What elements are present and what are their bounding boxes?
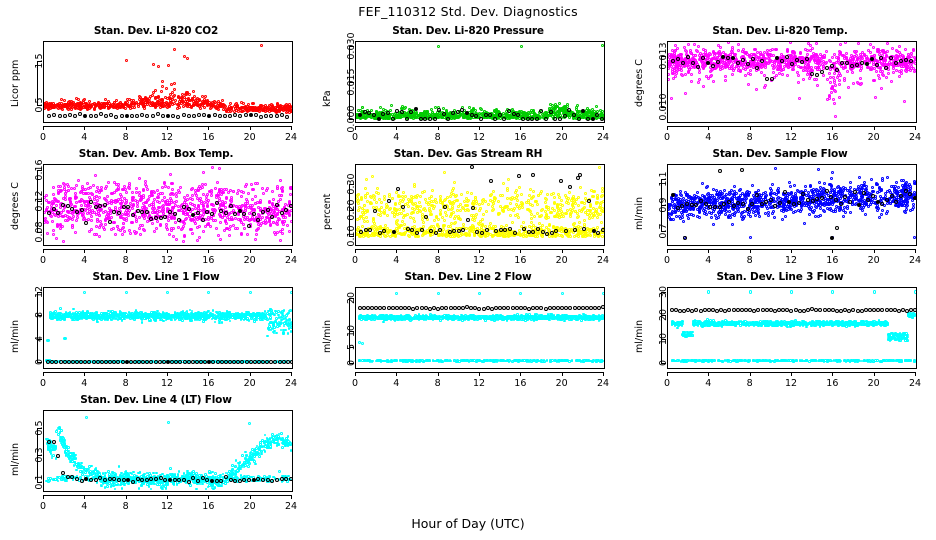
data-point — [402, 209, 405, 212]
data-point — [760, 66, 763, 69]
data-point — [391, 197, 394, 200]
data-point — [882, 49, 885, 52]
data-point — [489, 194, 492, 197]
data-point — [667, 73, 670, 76]
data-point — [589, 204, 592, 207]
data-point — [138, 194, 141, 197]
data-point — [169, 173, 172, 176]
data-point — [455, 199, 458, 202]
data-point — [162, 204, 165, 207]
data-point — [161, 186, 164, 189]
data-point — [173, 212, 177, 216]
data-point — [94, 114, 98, 118]
data-point — [815, 73, 819, 77]
data-point — [675, 72, 678, 75]
data-point — [208, 101, 211, 104]
y-tick-label: 0.030 — [346, 30, 357, 62]
data-point — [747, 83, 750, 86]
data-point — [716, 60, 720, 64]
data-point — [822, 74, 825, 77]
data-point — [216, 181, 219, 184]
data-point — [541, 224, 544, 227]
panel-4: Stan. Dev. Amb. Box Temp.048121620240.08… — [0, 148, 312, 271]
data-point — [61, 203, 65, 207]
data-point — [554, 105, 557, 108]
data-point — [890, 80, 893, 83]
data-point — [182, 105, 185, 108]
data-point — [117, 188, 120, 191]
data-point — [691, 61, 695, 65]
data-point — [249, 113, 253, 117]
data-point — [127, 104, 130, 107]
data-point — [564, 194, 567, 197]
data-point — [690, 73, 693, 76]
x-tick — [562, 126, 563, 130]
data-point — [553, 196, 556, 199]
data-point — [282, 223, 285, 226]
data-point — [111, 192, 114, 195]
data-point — [710, 74, 713, 77]
data-point — [130, 114, 134, 118]
data-point — [479, 117, 483, 121]
data-point — [846, 70, 849, 73]
data-point — [80, 204, 83, 207]
data-point — [702, 67, 705, 70]
data-point — [270, 215, 274, 219]
plot-area — [667, 41, 917, 123]
data-point — [186, 103, 189, 106]
data-point — [196, 226, 199, 229]
data-point — [63, 188, 66, 191]
data-point — [672, 77, 675, 80]
data-point — [766, 49, 769, 52]
data-point — [196, 239, 199, 242]
data-point — [246, 105, 249, 108]
data-point — [421, 234, 424, 237]
data-point — [910, 52, 913, 55]
x-tick — [167, 249, 168, 253]
data-point — [786, 74, 789, 77]
data-point — [218, 167, 221, 170]
data-point — [751, 57, 755, 61]
x-tick-label: 4 — [70, 255, 98, 266]
data-point — [258, 214, 261, 217]
data-point — [497, 200, 500, 203]
data-point — [136, 205, 139, 208]
data-point — [246, 233, 249, 236]
data-point — [140, 113, 144, 117]
data-point — [159, 224, 162, 227]
data-point — [233, 212, 237, 216]
data-point — [450, 117, 453, 120]
data-point — [213, 113, 217, 117]
data-point — [114, 233, 117, 236]
data-point — [839, 74, 842, 77]
data-point — [83, 217, 86, 220]
data-point — [99, 112, 103, 116]
y-tick-label: 1.5 — [34, 45, 45, 77]
data-point — [83, 114, 87, 118]
data-point — [601, 187, 604, 190]
data-point — [859, 53, 862, 56]
data-point — [52, 233, 55, 236]
data-point — [140, 198, 143, 201]
data-point — [52, 207, 56, 211]
x-tick — [915, 126, 916, 130]
x-tick — [208, 249, 209, 253]
data-point — [721, 55, 725, 59]
data-point — [829, 68, 832, 71]
x-tick — [874, 126, 875, 130]
data-point — [361, 106, 364, 109]
data-point — [482, 213, 485, 216]
data-point — [512, 112, 516, 116]
data-point — [601, 190, 604, 193]
data-point — [369, 201, 372, 204]
data-point — [772, 71, 775, 74]
data-point — [903, 100, 906, 103]
data-point — [145, 210, 149, 214]
data-point — [390, 104, 393, 107]
data-point — [250, 183, 253, 186]
data-point — [419, 117, 423, 121]
x-tick — [126, 249, 127, 253]
x-tick-label: 24 — [277, 255, 305, 266]
data-point — [62, 182, 65, 185]
data-point — [802, 69, 805, 72]
data-point — [601, 44, 604, 47]
data-point — [706, 61, 710, 65]
data-point — [809, 44, 812, 47]
data-point — [138, 177, 141, 180]
data-point — [266, 208, 270, 212]
data-point — [447, 208, 450, 211]
data-point — [109, 113, 113, 117]
data-point — [431, 204, 434, 207]
data-point — [859, 77, 862, 80]
data-point — [820, 70, 824, 74]
data-point — [797, 81, 800, 84]
data-point — [375, 201, 378, 204]
data-point — [742, 63, 745, 66]
data-point — [913, 70, 916, 73]
data-point — [885, 54, 888, 57]
data-point — [197, 113, 201, 117]
data-point — [174, 99, 177, 102]
x-tick-label: 4 — [694, 132, 722, 143]
data-point — [775, 56, 779, 60]
data-point — [280, 194, 283, 197]
data-point — [162, 209, 165, 212]
data-point — [873, 79, 876, 82]
data-point — [119, 106, 122, 109]
data-point — [842, 67, 845, 70]
data-point — [253, 208, 256, 211]
data-point — [161, 80, 164, 83]
data-point — [64, 192, 67, 195]
data-point — [860, 82, 863, 85]
x-tick-label: 16 — [194, 255, 222, 266]
data-point — [752, 61, 755, 64]
data-point — [433, 219, 436, 222]
data-point — [522, 235, 525, 238]
data-point — [562, 215, 565, 218]
data-point — [518, 186, 521, 189]
data-point — [186, 57, 189, 60]
data-point — [491, 209, 494, 212]
data-point — [242, 212, 246, 216]
data-point — [852, 82, 855, 85]
data-point — [96, 218, 99, 221]
data-point — [255, 233, 258, 236]
data-point — [872, 46, 875, 49]
data-point — [851, 71, 854, 74]
data-point — [412, 211, 415, 214]
y-tick-label: 0.000 — [346, 103, 357, 135]
data-point — [517, 216, 520, 219]
data-point — [177, 103, 180, 106]
data-point — [172, 227, 175, 230]
data-point — [102, 211, 105, 214]
data-point — [856, 58, 859, 61]
data-point — [161, 199, 164, 202]
data-point — [290, 109, 293, 112]
data-point — [84, 209, 87, 212]
panel-title: Stan. Dev. Li-820 Pressure — [312, 25, 624, 37]
data-point — [165, 87, 168, 90]
data-point — [100, 208, 103, 211]
data-point — [737, 49, 740, 52]
data-point — [209, 107, 212, 110]
panel-title: Stan. Dev. Li-820 CO2 — [0, 25, 312, 37]
data-point — [373, 198, 376, 201]
data-point — [152, 104, 155, 107]
data-point — [724, 79, 727, 82]
y-tick-label: 0.12 — [34, 185, 45, 217]
data-point — [763, 86, 766, 89]
data-point — [210, 212, 214, 216]
data-point — [70, 187, 73, 190]
data-point — [423, 117, 427, 121]
panel-title: Stan. Dev. Amb. Box Temp. — [0, 148, 312, 160]
data-point — [240, 195, 243, 198]
data-point — [145, 114, 149, 118]
data-point — [847, 86, 850, 89]
data-point — [806, 49, 809, 52]
data-point — [871, 67, 874, 70]
data-point — [182, 113, 186, 117]
x-tick-label: 12 — [465, 132, 493, 143]
data-point — [268, 220, 271, 223]
data-point — [57, 215, 60, 218]
data-point — [78, 200, 81, 203]
data-point — [774, 48, 777, 51]
data-point — [94, 103, 97, 106]
data-point — [86, 182, 89, 185]
data-point — [103, 203, 107, 207]
data-point — [560, 199, 563, 202]
data-point — [52, 193, 55, 196]
data-point — [240, 233, 243, 236]
data-point — [137, 105, 140, 108]
x-tick-label: 0 — [653, 132, 681, 143]
data-point — [414, 107, 418, 111]
data-point — [289, 193, 292, 196]
data-point — [275, 114, 279, 118]
data-point — [838, 83, 841, 86]
data-point — [281, 189, 284, 192]
data-point — [223, 229, 226, 232]
data-point — [800, 60, 804, 64]
data-point — [437, 218, 440, 221]
data-point — [234, 217, 237, 220]
data-point — [568, 116, 571, 119]
data-point — [224, 201, 227, 204]
data-point — [80, 208, 84, 212]
data-point — [251, 198, 254, 201]
data-point — [156, 104, 159, 107]
data-point — [402, 191, 405, 194]
data-point — [502, 117, 506, 121]
data-point — [435, 201, 438, 204]
x-tick-label: 24 — [589, 132, 617, 143]
data-point — [104, 114, 108, 118]
data-point — [210, 104, 213, 107]
data-point — [166, 228, 169, 231]
data-point — [129, 232, 132, 235]
data-point — [279, 179, 282, 182]
data-point — [813, 78, 816, 81]
data-point — [881, 73, 884, 76]
y-tick-label: 0.015 — [346, 66, 357, 98]
data-point — [445, 214, 448, 217]
data-point — [226, 216, 229, 219]
data-point — [405, 117, 409, 121]
data-point — [457, 205, 460, 208]
x-tick — [603, 126, 604, 130]
data-point — [272, 198, 275, 201]
data-point — [422, 221, 425, 224]
data-point — [449, 195, 452, 198]
data-point — [67, 211, 70, 214]
data-point — [151, 114, 155, 118]
data-point — [67, 218, 70, 221]
y-tick-label: 0.010 — [658, 91, 669, 123]
data-point — [698, 78, 701, 81]
data-point — [850, 64, 854, 68]
data-point — [393, 207, 396, 210]
data-point — [717, 64, 720, 67]
data-point — [224, 211, 228, 215]
data-point — [282, 216, 285, 219]
data-point — [182, 220, 185, 223]
data-point — [558, 117, 562, 121]
data-point — [853, 50, 856, 53]
data-point — [601, 210, 604, 213]
data-point — [126, 205, 130, 209]
data-point — [437, 45, 440, 48]
data-point — [711, 64, 715, 68]
data-point — [125, 191, 128, 194]
data-point — [667, 78, 670, 81]
data-point — [207, 218, 210, 221]
x-tick-label: 20 — [236, 255, 264, 266]
data-point — [144, 214, 147, 217]
data-point — [712, 57, 715, 60]
data-point — [211, 166, 214, 169]
data-point — [760, 71, 763, 74]
data-point — [210, 194, 213, 197]
panel-title: Stan. Dev. Li-820 Temp. — [624, 25, 936, 37]
data-point — [156, 209, 159, 212]
data-point — [136, 209, 140, 213]
data-point — [363, 220, 366, 223]
data-point — [75, 219, 78, 222]
data-point — [186, 212, 189, 215]
data-point — [135, 220, 138, 223]
data-point — [726, 56, 730, 60]
data-point — [684, 92, 687, 95]
data-point — [93, 233, 96, 236]
data-point — [181, 96, 184, 99]
data-point — [191, 194, 194, 197]
data-point — [696, 65, 700, 69]
data-point — [481, 223, 484, 226]
data-point — [860, 61, 864, 65]
data-point — [180, 228, 183, 231]
data-point — [509, 202, 512, 205]
data-point — [59, 185, 62, 188]
data-point — [506, 197, 509, 200]
data-point — [182, 211, 185, 214]
data-point — [51, 220, 54, 223]
data-point — [198, 236, 201, 239]
x-tick-label: 4 — [70, 132, 98, 143]
x-tick — [250, 249, 251, 253]
data-point — [898, 70, 901, 73]
data-point — [383, 195, 386, 198]
data-point — [829, 81, 832, 84]
data-point — [244, 113, 248, 117]
data-point — [46, 232, 49, 235]
data-point — [712, 80, 715, 83]
data-point — [135, 191, 138, 194]
data-point — [704, 51, 707, 54]
data-point — [192, 114, 196, 118]
data-point — [192, 104, 195, 107]
data-point — [98, 226, 101, 229]
panel-1: Stan. Dev. Li-820 CO2048121620240.51.5Li… — [0, 25, 312, 148]
data-point — [249, 204, 252, 207]
data-point — [419, 195, 422, 198]
x-tick — [832, 126, 833, 130]
data-point — [430, 213, 433, 216]
data-point — [52, 186, 55, 189]
data-point — [561, 235, 564, 238]
data-point — [558, 111, 561, 114]
data-point — [69, 197, 72, 200]
x-tick-label: 12 — [153, 132, 181, 143]
data-point — [492, 190, 495, 193]
data-point — [174, 221, 177, 224]
data-point — [188, 93, 191, 96]
data-point — [219, 221, 222, 224]
data-point — [57, 189, 60, 192]
data-point — [576, 212, 579, 215]
data-point — [74, 231, 77, 234]
data-point — [147, 198, 150, 201]
data-point — [599, 109, 602, 112]
